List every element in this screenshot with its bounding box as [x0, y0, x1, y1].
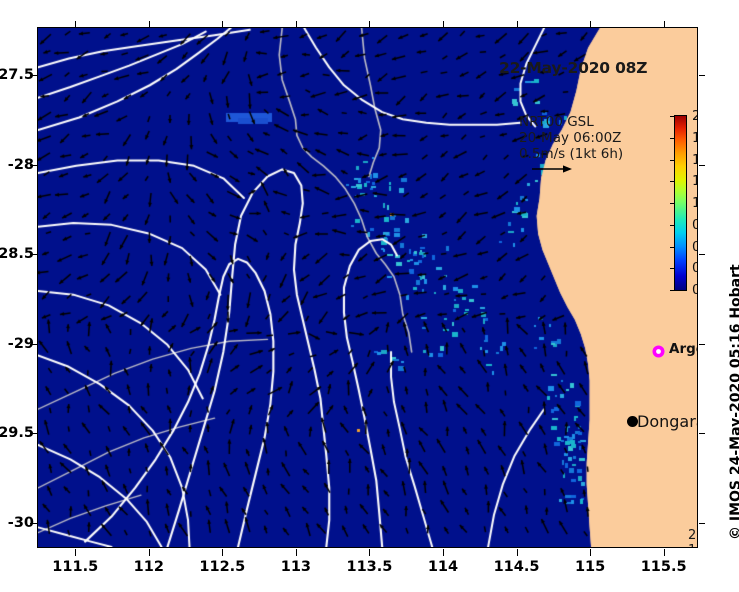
- x-tick-7: [590, 549, 591, 556]
- x-tick-label-8: 115.5: [641, 559, 687, 575]
- x-tick-2: [222, 549, 223, 556]
- x-tick-3: [296, 549, 297, 556]
- y-tick-label-1: -28: [8, 157, 34, 173]
- x-tick-top-6: [517, 21, 518, 27]
- y-tick-label-3: -29: [8, 336, 34, 352]
- colorbar-tick-label-7: 0.25: [692, 260, 698, 276]
- argo-label: Argo: [669, 341, 698, 357]
- x-tick-label-5: 114: [428, 559, 458, 575]
- colorbar-tick-5: [670, 225, 675, 226]
- x-tick-top-3: [296, 21, 297, 27]
- colorbar-tick-label-8: 0: [692, 282, 698, 298]
- x-tick-top-5: [443, 21, 444, 27]
- x-tick-label-4: 113.5: [347, 559, 393, 575]
- x-tick-4: [369, 549, 370, 556]
- x-tick-1: [149, 549, 150, 556]
- y-tick-label-5: -30: [8, 515, 34, 531]
- right-arrow-icon: [531, 163, 575, 176]
- x-tick-5: [443, 549, 444, 556]
- x-tick-label-2: 112.5: [199, 559, 245, 575]
- dongara-label: Dongara: [637, 412, 698, 431]
- vector-legend-line-2: 20-May 06:00Z: [519, 130, 623, 146]
- colorbar-tick-label-4: 1: [692, 195, 698, 211]
- colorbar-tick-label-0: 2: [692, 108, 698, 124]
- x-tick-6: [517, 549, 518, 556]
- colorbar-tick-6: [670, 247, 675, 248]
- y-tick-right-4: [699, 433, 705, 434]
- colorbar-tick-2: [670, 160, 675, 161]
- x-tick-top-2: [222, 21, 223, 27]
- y-tick-right-5: [699, 523, 705, 524]
- x-tick-label-7: 115: [575, 559, 605, 575]
- y-tick-right-2: [699, 254, 705, 255]
- velocity-vector-legend: NRT00 GSL 20-May 06:00Z 0.5m/s (1kt 6h): [519, 114, 623, 162]
- colorbar-tick-8: [670, 290, 675, 291]
- colorbar-tick-label-2: 1.5: [692, 152, 698, 168]
- y-tick-right-0: [699, 75, 705, 76]
- colorbar-tick-1: [670, 138, 675, 139]
- colorbar-tick-7: [670, 268, 675, 269]
- colorbar-tick-3: [670, 181, 675, 182]
- colorbar-tick-label-1: 1.75: [692, 130, 698, 146]
- map-plot-area: 22-May-2020 08Z NRT00 GSL 20-May 06:00Z …: [37, 27, 698, 548]
- depth-legend-200m: 200m: [688, 528, 698, 543]
- y-tick-right-3: [699, 344, 705, 345]
- page-title: 22-May-2020 08Z: [499, 59, 647, 77]
- x-tick-top-8: [664, 21, 665, 27]
- colorbar-tick-label-3: 1.25: [692, 173, 698, 189]
- depth-legend-1000m: 1000m: [688, 543, 698, 548]
- x-tick-8: [664, 549, 665, 556]
- map-raster-canvas: [38, 28, 697, 547]
- colorbar-tick-label-5: 0.75: [692, 217, 698, 233]
- colorbar-tick-label-6: 0.5: [692, 239, 698, 255]
- x-tick-top-1: [149, 21, 150, 27]
- x-tick-label-1: 112: [134, 559, 164, 575]
- colorbar-tick-0: [670, 116, 675, 117]
- vector-legend-line-3: 0.5m/s (1kt 6h): [519, 146, 623, 162]
- x-tick-label-0: 111.5: [52, 559, 98, 575]
- x-tick-top-4: [369, 21, 370, 27]
- colorbar-gradient: [674, 115, 687, 291]
- depth-contour-legend: 200m 1000m: [688, 528, 698, 548]
- x-tick-0: [75, 549, 76, 556]
- x-tick-label-3: 113: [281, 559, 311, 575]
- y-tick-label-2: -28.5: [0, 246, 34, 262]
- vector-legend-line-1: NRT00 GSL: [519, 114, 623, 130]
- sst-age-map-figure: 22-May-2020 08Z NRT00 GSL 20-May 06:00Z …: [0, 0, 739, 592]
- y-tick-right-1: [699, 165, 705, 166]
- argo-float-marker-icon[interactable]: [651, 344, 666, 359]
- x-tick-top-7: [590, 21, 591, 27]
- colorbar-tick-4: [670, 203, 675, 204]
- y-tick-label-0: -27.5: [0, 67, 34, 83]
- copyright-notice: © IMOS 24-May-2020 05:16 Hobart: [728, 240, 739, 540]
- x-tick-top-0: [75, 21, 76, 27]
- x-tick-label-6: 114.5: [494, 559, 540, 575]
- y-tick-label-4: -29.5: [0, 425, 34, 441]
